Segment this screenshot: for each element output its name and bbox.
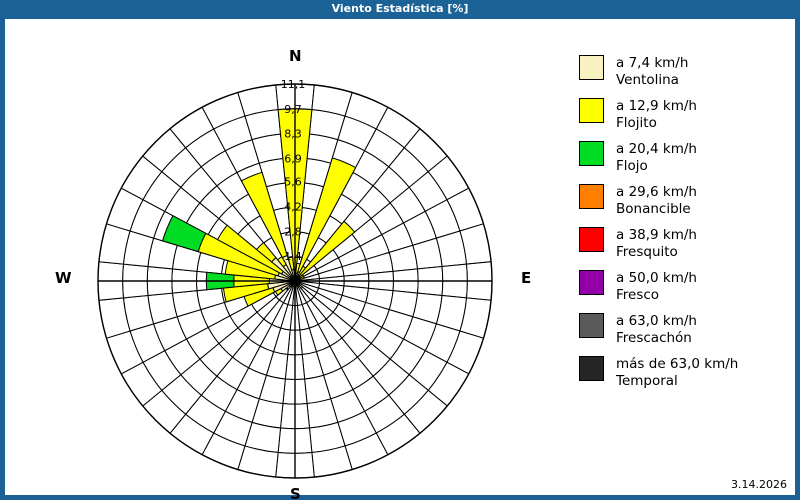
windrose-plot: 1,42,84,25,66,98,39,711,1 N E S W bbox=[5, 19, 565, 495]
legend-name-label: Frescachón bbox=[616, 330, 697, 347]
legend-item[interactable]: a 29,6 km/hBonancible bbox=[579, 184, 795, 218]
legend-color-swatch bbox=[579, 55, 604, 80]
compass-label-west: W bbox=[55, 269, 72, 287]
radial-tick-label: 8,3 bbox=[284, 128, 302, 141]
legend-item-label: a 29,6 km/hBonancible bbox=[616, 184, 697, 218]
window-title: Viento Estadística [%] bbox=[0, 0, 800, 17]
legend-item[interactable]: a 12,9 km/hFlojito bbox=[579, 98, 795, 132]
legend-item-label: a 38,9 km/hFresquito bbox=[616, 227, 697, 261]
radial-tick-label: 5,6 bbox=[284, 176, 302, 189]
legend-item[interactable]: a 63,0 km/hFrescachón bbox=[579, 313, 795, 347]
legend-name-label: Temporal bbox=[616, 373, 738, 390]
radial-tick-label: 1,4 bbox=[284, 250, 302, 263]
legend-item[interactable]: a 20,4 km/hFlojo bbox=[579, 141, 795, 175]
legend-item-label: a 63,0 km/hFrescachón bbox=[616, 313, 697, 347]
legend-speed-label: a 50,0 km/h bbox=[616, 270, 697, 287]
legend-speed-label: a 12,9 km/h bbox=[616, 98, 697, 115]
legend-item-label: a 7,4 km/hVentolina bbox=[616, 55, 688, 89]
radial-tick-label: 11,1 bbox=[281, 78, 306, 91]
legend-name-label: Fresco bbox=[616, 287, 697, 304]
app-window: Viento Estadística [%] 1,42,84,25,66,98,… bbox=[0, 0, 800, 500]
legend-color-swatch bbox=[579, 356, 604, 381]
legend-color-swatch bbox=[579, 141, 604, 166]
legend-speed-label: a 29,6 km/h bbox=[616, 184, 697, 201]
legend-name-label: Bonancible bbox=[616, 201, 697, 218]
legend-name-label: Ventolina bbox=[616, 72, 688, 89]
radial-tick-label: 9,7 bbox=[284, 103, 302, 116]
legend-speed-label: a 20,4 km/h bbox=[616, 141, 697, 158]
legend-color-swatch bbox=[579, 227, 604, 252]
radial-tick-label: 2,8 bbox=[284, 225, 302, 238]
legend-color-swatch bbox=[579, 313, 604, 338]
legend-item-label: más de 63,0 km/hTemporal bbox=[616, 356, 738, 390]
legend: a 7,4 km/hVentolinaa 12,9 km/hFlojitoa 2… bbox=[579, 55, 795, 399]
legend-item-label: a 12,9 km/hFlojito bbox=[616, 98, 697, 132]
legend-item[interactable]: más de 63,0 km/hTemporal bbox=[579, 356, 795, 390]
legend-item-label: a 20,4 km/hFlojo bbox=[616, 141, 697, 175]
legend-item[interactable]: a 50,0 km/hFresco bbox=[579, 270, 795, 304]
legend-speed-label: a 38,9 km/h bbox=[616, 227, 697, 244]
radial-tick-label: 4,2 bbox=[284, 200, 302, 213]
radial-tick-label: 6,9 bbox=[284, 153, 302, 166]
legend-color-swatch bbox=[579, 184, 604, 209]
compass-label-east: E bbox=[521, 269, 531, 287]
legend-name-label: Fresquito bbox=[616, 244, 697, 261]
legend-item[interactable]: a 7,4 km/hVentolina bbox=[579, 55, 795, 89]
legend-name-label: Flojito bbox=[616, 115, 697, 132]
legend-name-label: Flojo bbox=[616, 158, 697, 175]
legend-item[interactable]: a 38,9 km/hFresquito bbox=[579, 227, 795, 261]
legend-speed-label: a 63,0 km/h bbox=[616, 313, 697, 330]
legend-color-swatch bbox=[579, 98, 604, 123]
legend-item-label: a 50,0 km/hFresco bbox=[616, 270, 697, 304]
legend-speed-label: a 7,4 km/h bbox=[616, 55, 688, 72]
windrose-svg: 1,42,84,25,66,98,39,711,1 bbox=[5, 19, 565, 495]
legend-speed-label: más de 63,0 km/h bbox=[616, 356, 738, 373]
date-stamp: 3.14.2026 bbox=[731, 478, 787, 491]
compass-label-south: S bbox=[290, 485, 301, 503]
content-panel: 1,42,84,25,66,98,39,711,1 N E S W a 7,4 … bbox=[4, 18, 796, 496]
legend-color-swatch bbox=[579, 270, 604, 295]
compass-label-north: N bbox=[289, 47, 302, 65]
